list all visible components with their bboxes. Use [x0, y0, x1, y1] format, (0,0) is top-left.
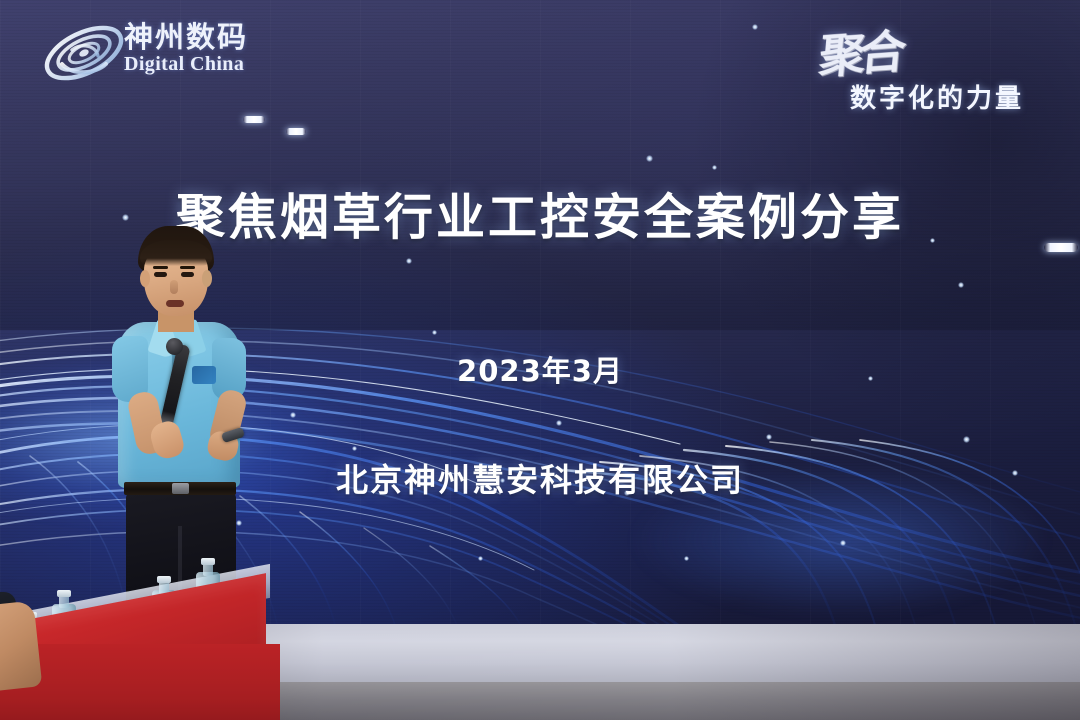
digital-china-english-name: Digital China: [124, 53, 294, 76]
speaker-eyebrow-right: [180, 266, 195, 269]
speaker-eyebrow-left: [153, 266, 168, 269]
digital-china-swirl-icon: [38, 20, 130, 86]
digital-china-chinese-name: 神州数码: [124, 22, 294, 52]
table-red-cloth-lower: [0, 644, 280, 720]
speaker-ear-right: [202, 270, 212, 287]
campaign-logo: 聚合 数字化的力量: [812, 16, 1064, 116]
speaker-shirt-logo: [192, 366, 216, 384]
campaign-subtitle: 数字化的力量: [850, 78, 1065, 115]
digital-china-logo: 神州数码 Digital China: [38, 18, 288, 90]
bottle-cap: [201, 558, 215, 565]
speaker-ear-left: [140, 270, 150, 287]
speaker-belt-buckle: [172, 483, 189, 494]
bottle-cap: [57, 590, 71, 597]
speaker-eye-right: [181, 272, 194, 277]
speaker-nose: [170, 280, 178, 294]
speaker-mouth: [166, 300, 184, 307]
bottle-cap: [157, 576, 171, 583]
speaker-eye-left: [154, 272, 167, 277]
panel-table: [0, 548, 270, 720]
conference-stage-photo: 神州数码 Digital China 聚合 数字化的力量 聚焦烟草行业工控安全案…: [0, 0, 1080, 720]
digital-china-wordmark: 神州数码 Digital China: [124, 22, 294, 76]
speaker-hair-fringe: [140, 240, 212, 266]
